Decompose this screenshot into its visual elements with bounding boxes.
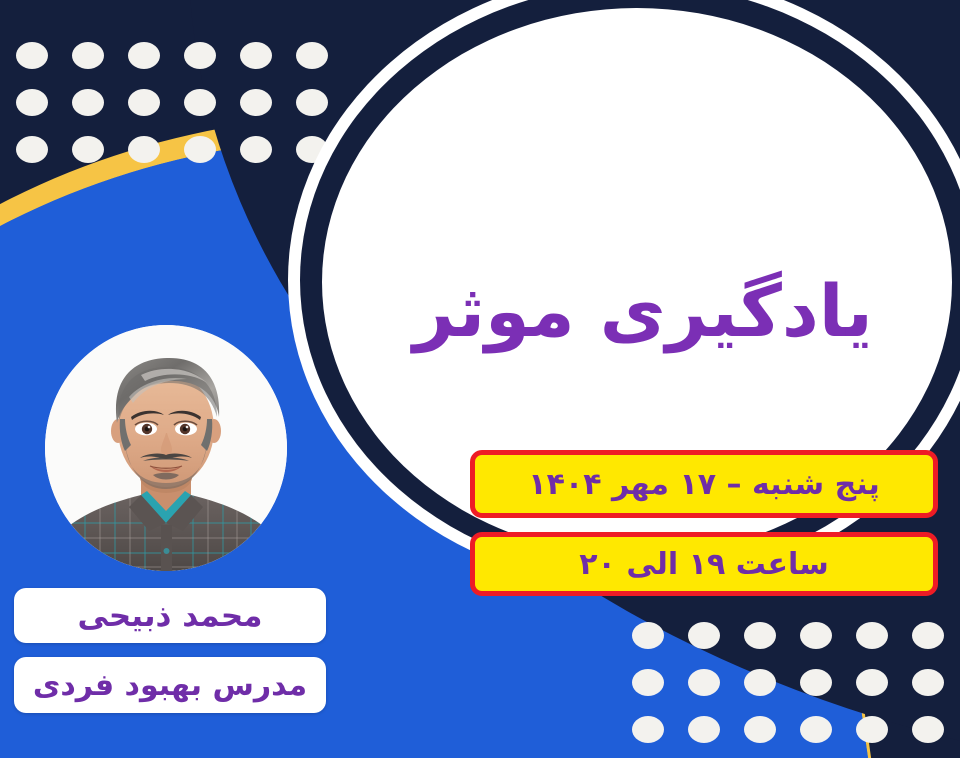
dot-icon <box>800 669 832 696</box>
dot-icon <box>632 669 664 696</box>
poster-canvas: یادگیری موثر پنج شنبه – ۱۷ مهر ۱۴۰۴ ساعت… <box>0 0 960 758</box>
dot-icon <box>632 716 664 743</box>
speaker-name-badge: محمد ذبیحی <box>14 588 326 643</box>
speaker-portrait-image <box>45 325 287 571</box>
dot-icon <box>912 669 944 696</box>
speaker-avatar <box>45 325 287 571</box>
dot-icon <box>856 716 888 743</box>
dot-icon <box>240 42 272 69</box>
dot-icon <box>856 669 888 696</box>
dot-icon <box>128 89 160 116</box>
dot-icon <box>16 89 48 116</box>
dot-icon <box>912 716 944 743</box>
event-time-badge: ساعت ۱۹ الی ۲۰ <box>470 532 938 596</box>
dot-icon <box>16 136 48 163</box>
dot-icon <box>72 89 104 116</box>
dot-icon <box>128 136 160 163</box>
dot-grid-bottom-right-icon <box>632 622 944 743</box>
dot-icon <box>744 716 776 743</box>
dot-icon <box>744 669 776 696</box>
dot-icon <box>240 89 272 116</box>
speaker-role-badge: مدرس بهبود فردی <box>14 657 326 713</box>
dot-icon <box>688 622 720 649</box>
dot-icon <box>296 42 328 69</box>
dot-icon <box>632 622 664 649</box>
dot-icon <box>688 716 720 743</box>
dot-icon <box>800 716 832 743</box>
dot-icon <box>856 622 888 649</box>
dot-icon <box>184 42 216 69</box>
dot-icon <box>688 669 720 696</box>
event-date-badge: پنج شنبه – ۱۷ مهر ۱۴۰۴ <box>470 450 938 518</box>
dot-icon <box>72 136 104 163</box>
dot-icon <box>800 622 832 649</box>
dot-icon <box>72 42 104 69</box>
dot-icon <box>16 42 48 69</box>
dot-icon <box>744 622 776 649</box>
dot-icon <box>240 136 272 163</box>
dot-icon <box>296 89 328 116</box>
dot-icon <box>184 136 216 163</box>
dot-icon <box>128 42 160 69</box>
dot-icon <box>912 622 944 649</box>
dot-grid-top-left-icon <box>16 42 328 163</box>
page-title: یادگیری موثر <box>413 272 873 351</box>
dot-icon <box>184 89 216 116</box>
